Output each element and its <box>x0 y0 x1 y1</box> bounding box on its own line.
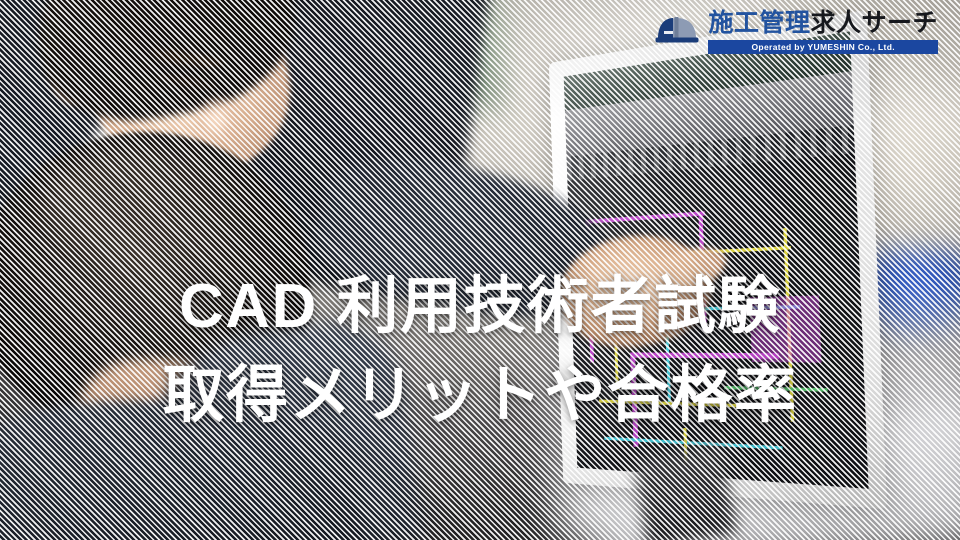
hard-hat-icon <box>654 12 700 48</box>
logo-title-blue: 施工管理 <box>708 9 810 37</box>
logo-title-dark: 求人サーチ <box>810 9 938 37</box>
logo-text-block: 施工管理求人サーチ Operated by YUMESHIN Co., Ltd. <box>708 10 938 54</box>
photo-vignette <box>0 0 960 540</box>
logo-title: 施工管理求人サーチ <box>708 10 938 37</box>
hero-banner: 施工管理求人サーチ Operated by YUMESHIN Co., Ltd.… <box>0 0 960 540</box>
background-photo <box>0 0 960 540</box>
site-logo[interactable]: 施工管理求人サーチ Operated by YUMESHIN Co., Ltd. <box>654 10 938 54</box>
logo-tagline: Operated by YUMESHIN Co., Ltd. <box>708 40 938 54</box>
